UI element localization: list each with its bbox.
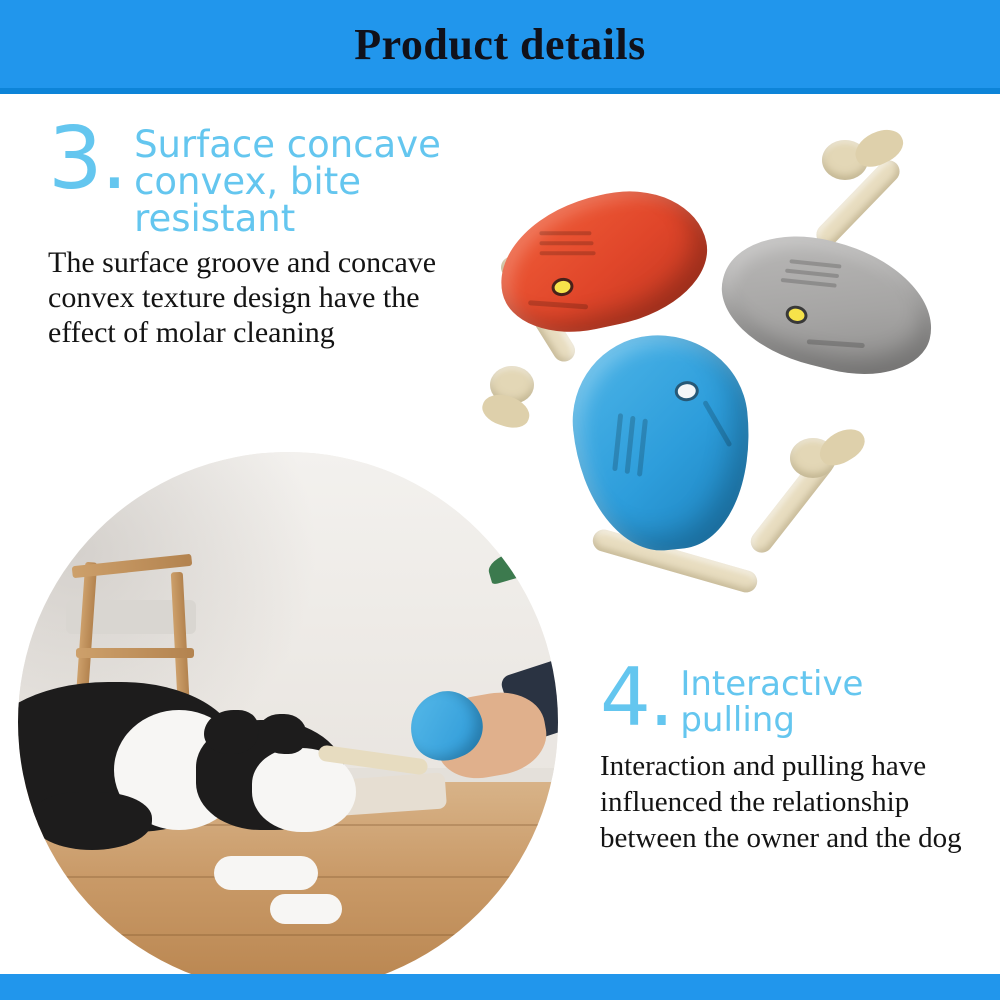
section-4-headrow: 4. Interactive pulling <box>600 662 980 738</box>
shark-toy-gray <box>708 218 947 391</box>
page-header: Product details <box>0 0 1000 88</box>
section-3-body: The surface groove and concave convex te… <box>48 245 448 350</box>
gill-line <box>625 416 636 474</box>
dog-paw <box>214 856 318 890</box>
gill-line <box>785 269 839 279</box>
shark-toy-red <box>487 176 719 347</box>
shark-eye <box>553 279 571 294</box>
shark-mouth <box>528 300 588 309</box>
dog-leg <box>32 792 152 850</box>
dog-ear <box>258 714 306 754</box>
section-3: 3. Surface concave convex, bite resistan… <box>48 120 518 350</box>
section-4-heading: Interactive pulling <box>680 662 980 738</box>
shark-mouth <box>807 339 865 348</box>
shark-mouth <box>702 400 732 448</box>
section-3-heading: Surface concave convex, bite resistant <box>134 120 464 237</box>
gill-line <box>539 231 591 235</box>
section-4-body: Interaction and pulling have influenced … <box>600 748 970 856</box>
gill-line <box>612 413 623 471</box>
product-details-page: Product details 3. Surface concave conve… <box>0 0 1000 1000</box>
shark-toy-blue <box>564 326 761 558</box>
gill-line <box>540 251 596 255</box>
gill-line <box>781 278 837 288</box>
gill-line <box>789 259 841 268</box>
gill-line <box>540 241 594 245</box>
chair-rail <box>76 648 194 658</box>
section-4: 4. Interactive pulling Interaction and p… <box>600 662 980 856</box>
page-title: Product details <box>354 19 645 70</box>
section-3-number: 3. <box>48 120 126 198</box>
floor-plank <box>18 934 558 936</box>
gill-line <box>637 419 648 477</box>
dog-paw <box>270 894 342 924</box>
header-underline <box>0 88 1000 94</box>
section-4-number: 4. <box>600 662 672 734</box>
shark-eye <box>787 307 805 323</box>
dog-lifestyle-image <box>18 452 558 992</box>
page-footer-bar <box>0 974 1000 1000</box>
dog-ear <box>204 710 258 754</box>
section-3-headrow: 3. Surface concave convex, bite resistan… <box>48 120 518 237</box>
shark-eye <box>677 383 696 399</box>
